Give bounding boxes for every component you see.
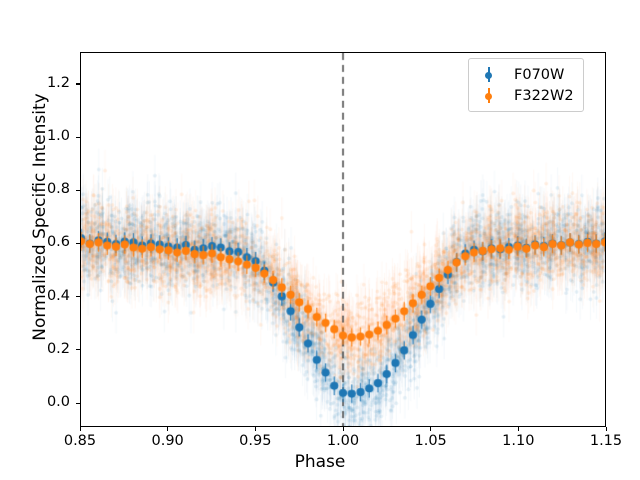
legend-label-f070w: F070W — [502, 67, 564, 83]
x-tick — [255, 427, 256, 431]
y-tick-label: 0.0 — [0, 394, 70, 410]
y-tick-label: 0.2 — [0, 341, 70, 357]
x-axis-label: Phase — [0, 452, 640, 472]
y-tick-label: 0.8 — [0, 181, 70, 197]
legend-marker-f070w — [476, 64, 502, 85]
x-tick-label: 0.95 — [220, 433, 290, 449]
x-tick — [80, 427, 81, 431]
x-tick — [343, 427, 344, 431]
legend: F070W F322W2 — [468, 58, 584, 112]
y-tick — [76, 83, 80, 84]
transit-lightcurve-figure: Phase Normalized Specific Intensity F070… — [0, 0, 640, 480]
x-tick — [430, 427, 431, 431]
y-tick — [76, 137, 80, 138]
legend-marker-f322w2 — [476, 85, 502, 106]
x-tick-label: 1.05 — [396, 433, 466, 449]
y-tick-label: 1.0 — [0, 128, 70, 144]
x-tick-label: 0.85 — [45, 433, 115, 449]
y-tick-label: 1.2 — [0, 75, 70, 91]
x-tick — [167, 427, 168, 431]
y-tick — [76, 403, 80, 404]
x-tick-label: 1.10 — [483, 433, 553, 449]
legend-item-f070w[interactable]: F070W — [476, 64, 574, 85]
y-tick — [76, 243, 80, 244]
y-tick-label: 0.4 — [0, 288, 70, 304]
legend-item-f322w2[interactable]: F322W2 — [476, 85, 574, 106]
y-tick — [76, 190, 80, 191]
legend-label-f322w2: F322W2 — [502, 88, 574, 104]
y-tick — [76, 349, 80, 350]
x-tick-label: 0.90 — [133, 433, 203, 449]
x-tick-label: 1.00 — [308, 433, 378, 449]
y-tick — [76, 296, 80, 297]
x-tick — [606, 427, 607, 431]
x-tick-label: 1.15 — [571, 433, 640, 449]
x-tick — [518, 427, 519, 431]
y-tick-label: 0.6 — [0, 234, 70, 250]
